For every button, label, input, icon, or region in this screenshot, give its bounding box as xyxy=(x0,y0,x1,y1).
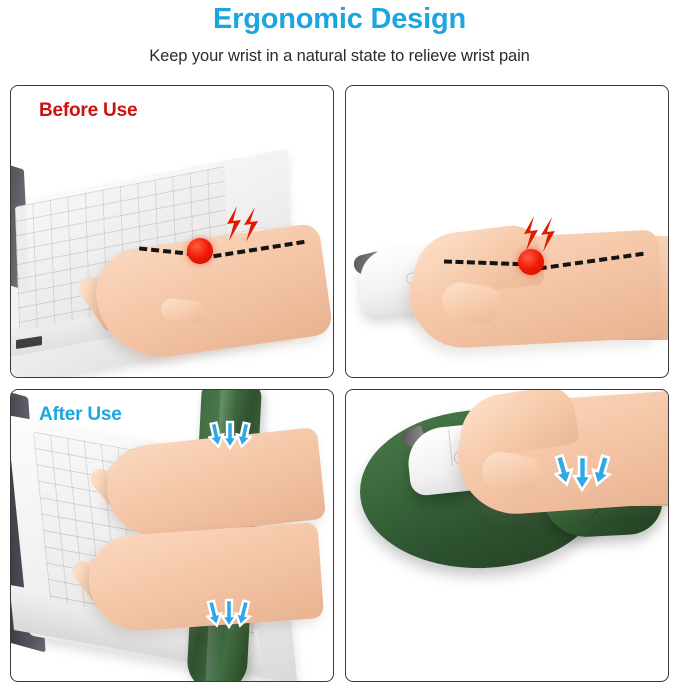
blue-down-arrow-icon-group xyxy=(554,452,614,498)
lightning-bolt-icon xyxy=(514,214,562,254)
pain-marker xyxy=(187,238,213,264)
panel-after-mouse xyxy=(345,389,669,682)
scene-after-mouse xyxy=(346,390,668,681)
page-title: Ergonomic Design xyxy=(0,0,679,34)
panel-before-keyboard: Before Use xyxy=(10,85,334,378)
panel-before-mouse xyxy=(345,85,669,378)
scene-after-keyboard: After Use xyxy=(11,390,333,681)
panel-grid: Before Use xyxy=(10,85,669,682)
blue-down-arrow-icon-group-top xyxy=(208,420,252,454)
panel-after-keyboard: After Use xyxy=(10,389,334,682)
lightning-bolt-icon xyxy=(217,204,265,244)
hand-lower xyxy=(86,522,324,634)
panel-label-after-use: After Use xyxy=(39,404,122,426)
page-subtitle: Keep your wrist in a natural state to re… xyxy=(0,34,679,65)
scene-before-mouse xyxy=(346,86,668,377)
scene-before-keyboard: Before Use xyxy=(11,86,333,377)
header: Ergonomic Design Keep your wrist in a na… xyxy=(0,0,679,80)
infographic-page: Ergonomic Design Keep your wrist in a na… xyxy=(0,0,679,689)
blue-down-arrow-icon-group-bottom xyxy=(206,598,252,634)
panel-label-before-use: Before Use xyxy=(39,100,137,122)
